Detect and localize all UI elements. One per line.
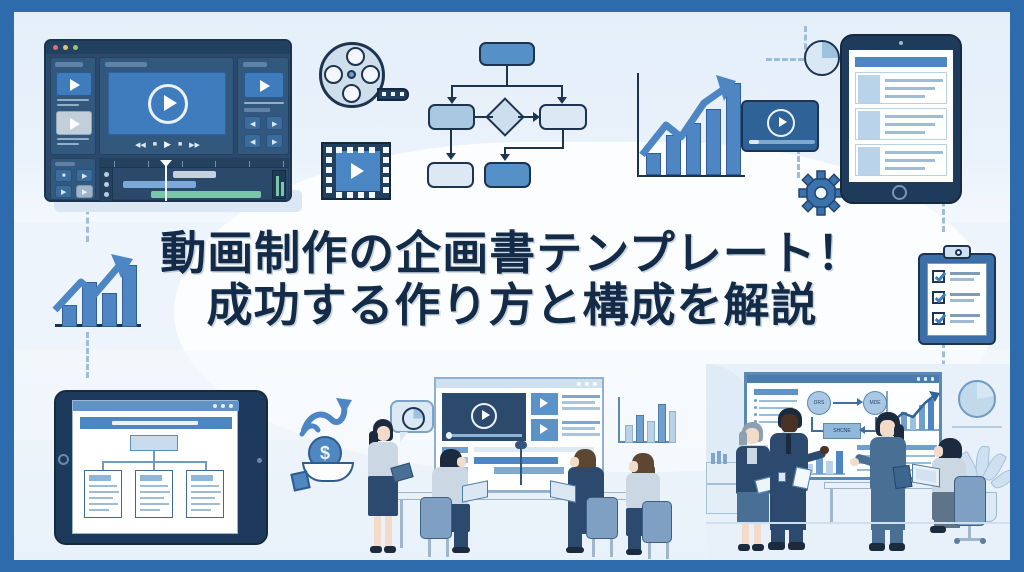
tablet-camera-dot: [899, 41, 903, 45]
title-line-1: 動画制作の企画書テンプレート！: [14, 228, 1010, 280]
track-head-dot-1[interactable]: [104, 172, 109, 177]
browser-bar: [73, 401, 239, 411]
tablet-home-button[interactable]: [892, 185, 907, 200]
board-node-3-label: SHCNE: [833, 428, 851, 434]
person-seated-far-right: [616, 453, 674, 553]
header-graphic: ◀◀ ■ ▶ ■ ▶▶ ◀: [0, 0, 1024, 572]
tablet-side-button[interactable]: [58, 454, 69, 465]
transport-controls[interactable]: ◀◀ ■ ▶ ■ ▶▶: [135, 139, 200, 150]
page-title-bar: [80, 417, 232, 429]
flowchart-node-left[interactable]: [428, 104, 475, 130]
person-presenter-2: [864, 412, 916, 552]
video-preview[interactable]: [108, 72, 226, 135]
connector-pie-h: [766, 58, 804, 61]
tools-panel: ■ ▶ ▶ ▶: [50, 158, 96, 200]
pie-chart-icon: [804, 40, 840, 76]
nav-prev-button-1[interactable]: ◀: [244, 116, 261, 130]
timeline-clip-3[interactable]: [151, 191, 261, 198]
properties-panel: ◀ ▶ ◀ ▶: [237, 57, 289, 155]
person-seated-left: [424, 449, 486, 554]
track-head-dot-2[interactable]: [104, 182, 109, 187]
whiteboard-strategy-presentation: DRS MDE SHCNE: [706, 364, 1010, 560]
window-dot-close[interactable]: [53, 45, 58, 50]
window-dot-minimize[interactable]: [63, 45, 68, 50]
flowchart-arrow-to-right-node: [533, 112, 540, 122]
preview-panel: ◀◀ ■ ▶ ■ ▶▶: [99, 57, 234, 155]
tool-extra-button[interactable]: ▶: [76, 185, 93, 198]
page-title: 動画制作の企画書テンプレート！ 成功する作り方と構成を解説: [14, 228, 1010, 332]
person-presenter: [358, 419, 410, 554]
video-progress-bar[interactable]: [446, 434, 522, 437]
bar-5: [669, 411, 676, 443]
pie-chart-icon: [958, 380, 996, 418]
tablet-org-chart[interactable]: [54, 390, 268, 545]
list-item[interactable]: [855, 108, 947, 140]
list-item[interactable]: [855, 72, 947, 104]
timeline-panel[interactable]: [99, 158, 289, 200]
office-chair: [586, 497, 618, 539]
office-chair: [642, 501, 672, 543]
stop-icon-2[interactable]: ■: [178, 141, 182, 148]
media-thumb-1[interactable]: [56, 72, 92, 96]
planning-flowchart: [420, 34, 595, 189]
film-frame-inner: [336, 151, 380, 191]
playhead-handle[interactable]: [160, 160, 172, 167]
play-button-ring[interactable]: [767, 109, 795, 137]
org-doc-card[interactable]: [135, 470, 173, 518]
flowchart-arrow-right: [557, 97, 567, 104]
track-head-dot-3[interactable]: [104, 192, 109, 197]
progress-bar[interactable]: [749, 140, 815, 144]
bar-3: [647, 421, 655, 443]
stop-icon[interactable]: ■: [153, 141, 157, 148]
badge: [778, 472, 786, 482]
play-icon: [482, 410, 490, 420]
film-strip-play-icon[interactable]: [321, 142, 391, 200]
board-node-1-label: DRS: [814, 400, 825, 406]
whiteboard-titlebar: [747, 375, 939, 383]
flowchart-node-bottom-right[interactable]: [484, 162, 531, 188]
flowchart-node-bottom-left[interactable]: [427, 162, 474, 188]
audio-meter: [272, 170, 286, 199]
tool-record-button[interactable]: ▶: [55, 185, 72, 198]
growth-bar-chart-with-arrow: [624, 67, 744, 187]
play-icon: [164, 95, 177, 111]
canvas: ◀◀ ■ ▶ ■ ▶▶ ◀: [14, 12, 1010, 560]
preview-thumb[interactable]: [244, 72, 284, 98]
play-icon: [351, 163, 364, 179]
play-icon: [70, 79, 80, 91]
list-item-thumbnail: [858, 75, 880, 103]
office-chair: [954, 476, 986, 526]
play-icon: [540, 424, 548, 434]
fast-forward-icon[interactable]: ▶▶: [189, 141, 200, 149]
rewind-icon[interactable]: ◀◀: [135, 141, 146, 149]
bar-1: [625, 425, 633, 443]
flowchart-arrow-bottom-left: [446, 153, 456, 160]
bar-chart: [616, 397, 678, 447]
person-presenter-main: [764, 408, 826, 552]
play-button-ring[interactable]: [148, 84, 188, 124]
person-seated-at-desk: [924, 438, 996, 548]
clip-thumb-2[interactable]: [531, 419, 558, 441]
play-icon: [540, 398, 548, 408]
nav-next-button-2[interactable]: ▶: [266, 134, 283, 148]
sleeve-cuff: [290, 470, 310, 491]
play-icon: [70, 118, 80, 130]
window-titlebar: [46, 41, 290, 54]
media-thumb-2[interactable]: [56, 111, 92, 135]
nav-next-button-1[interactable]: ▶: [266, 116, 283, 130]
gear-icon: [798, 170, 844, 216]
document-header-bar: [855, 57, 947, 67]
clip-thumb-1[interactable]: [531, 393, 558, 415]
timeline-clip-1[interactable]: [173, 171, 216, 178]
tool-play-button[interactable]: ▶: [76, 169, 93, 182]
org-doc-card[interactable]: [84, 470, 122, 518]
screen-titlebar: [436, 379, 602, 388]
play-icon: [260, 80, 270, 92]
window-dot-maximize[interactable]: [73, 45, 78, 50]
playhead[interactable]: [165, 161, 167, 201]
film-reel-tail: [377, 88, 409, 101]
tablet-document-list[interactable]: [840, 34, 962, 204]
list-item-thumbnail: [858, 147, 880, 175]
video-player[interactable]: [442, 393, 526, 441]
play-button-ring[interactable]: [471, 403, 497, 429]
list-item-thumbnail: [858, 111, 880, 139]
timeline-clip-2[interactable]: [123, 181, 196, 188]
flowchart-arrow-left: [447, 97, 457, 104]
title-line-2: 成功する作り方と構成を解説: [14, 280, 1010, 332]
board-node-2-label: MDE: [869, 400, 880, 406]
held-document: [792, 467, 812, 490]
org-root-node[interactable]: [130, 435, 178, 451]
flowchart-node-top[interactable]: [479, 42, 535, 66]
bar-2: [636, 415, 644, 443]
list-item[interactable]: [855, 144, 947, 176]
flowchart-node-right[interactable]: [539, 104, 587, 130]
tablet-side-dot: [257, 458, 262, 463]
bar-4: [658, 404, 666, 443]
tool-stop-button[interactable]: ■: [55, 169, 72, 182]
video-thumbnail-card[interactable]: [741, 100, 819, 152]
person-seated-right: [556, 449, 618, 554]
play-icon: [779, 117, 787, 127]
media-bin-panel: [50, 57, 96, 155]
org-doc-card[interactable]: [186, 470, 224, 518]
video-editing-software-window[interactable]: ◀◀ ■ ▶ ■ ▶▶ ◀: [44, 39, 292, 202]
flowchart-arrow-bottom-right: [500, 154, 510, 161]
trend-arrow-icon: [624, 67, 744, 187]
nav-prev-button-2[interactable]: ◀: [244, 134, 261, 148]
film-reel-icon: [319, 42, 404, 122]
play-icon[interactable]: ▶: [164, 139, 171, 150]
office-chair: [420, 497, 452, 539]
board-node-3: SHCNE: [823, 423, 861, 439]
team-meeting-video-review: [344, 367, 704, 560]
held-tablet: [893, 465, 913, 489]
